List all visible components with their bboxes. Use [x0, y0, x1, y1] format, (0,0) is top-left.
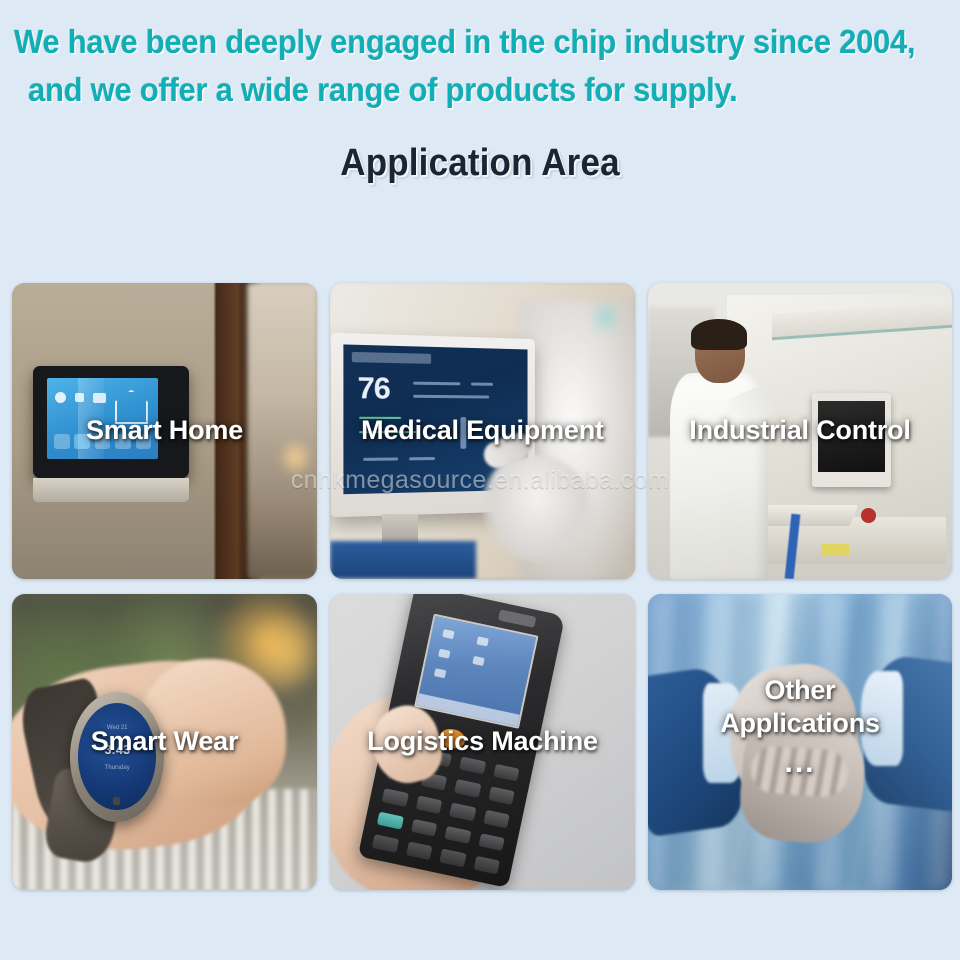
- page-title: Application Area: [51, 140, 908, 186]
- right-shirt-cuff: [861, 671, 904, 766]
- smartwatch: Wed 21 3:43 Thursday: [70, 692, 165, 822]
- keypad-key: [406, 842, 433, 861]
- card-smart-wear[interactable]: Wed 21 3:43 Thursday Smart Wear: [12, 594, 317, 890]
- page-header: We have been deeply engaged in the chip …: [0, 0, 960, 186]
- keypad-key: [478, 833, 505, 852]
- monitor-waveform-2: [471, 382, 492, 385]
- shortcut-icon-light: [54, 434, 70, 448]
- keypad-key: [454, 779, 481, 798]
- watch-weekday-label: Thursday: [78, 765, 156, 771]
- headline-line-2: and we offer a wide range of products fo…: [28, 66, 891, 114]
- card-smart-home[interactable]: Smart Home: [12, 283, 317, 579]
- logistics-machine-photo: [330, 594, 635, 890]
- monitor-waveform-1: [413, 381, 461, 385]
- industrial-control-photo: [648, 283, 952, 579]
- emergency-button: [861, 508, 876, 523]
- headline-line-1: We have been deeply engaged in the chip …: [14, 18, 890, 66]
- card-logistics-machine[interactable]: Logistics Machine: [330, 594, 635, 890]
- handshake-fingers: [750, 745, 850, 799]
- desktop-icon-5: [472, 656, 485, 666]
- keypad-key: [440, 849, 467, 868]
- monitor-status-bar: [352, 352, 432, 364]
- monitor-trace-green-2: [360, 431, 417, 433]
- warm-light-glow: [277, 437, 314, 478]
- smart-home-photo: [12, 283, 317, 579]
- yellow-label: [821, 544, 848, 556]
- screen-glare: [78, 378, 103, 459]
- scan-button: [437, 726, 466, 750]
- desktop-icon-3: [433, 668, 446, 678]
- application-area-grid: Smart Home 76: [12, 283, 950, 890]
- keypad-key: [473, 856, 500, 875]
- monitor-waveform-3: [413, 395, 489, 399]
- watch-crown: [113, 797, 120, 805]
- keypad-key: [372, 834, 399, 853]
- blue-drape: [330, 541, 476, 579]
- keypad-key: [459, 756, 486, 775]
- monitor-footer-1: [363, 458, 397, 461]
- medical-equipment-photo: 76: [330, 283, 635, 579]
- hand: [140, 659, 286, 807]
- card-other-applications[interactable]: Other Applications ...: [648, 594, 952, 890]
- machine-monitor-screen: [818, 401, 884, 472]
- keypad-key: [483, 810, 510, 829]
- shortcut-icon-camera: [136, 434, 152, 448]
- keypad-key-function: [377, 811, 404, 830]
- desktop-icon-2: [438, 648, 451, 658]
- monitor-reading-value: 76: [358, 372, 390, 407]
- other-applications-photo: [648, 594, 952, 890]
- monitor-footer-2: [409, 458, 435, 461]
- keypad-key: [416, 795, 443, 814]
- keypad-key: [493, 763, 520, 782]
- technician-hair: [691, 319, 747, 350]
- monitor-vertical-trace: [461, 417, 466, 449]
- desktop-icon-1: [442, 629, 455, 639]
- watch-face: Wed 21 3:43 Thursday: [78, 703, 156, 810]
- machine-monitor: [812, 393, 891, 488]
- desktop-icon-4: [476, 636, 489, 646]
- device-screen: [414, 614, 538, 729]
- keypad-key: [382, 788, 409, 807]
- watch-time-label: 3:43: [78, 742, 156, 757]
- smart-wear-photo: Wed 21 3:43 Thursday: [12, 594, 317, 890]
- monitor-trace-green-1: [360, 417, 402, 419]
- shortcut-icon-wifi: [115, 434, 131, 448]
- watch-date-label: Wed 21: [78, 725, 156, 731]
- wall-touch-panel: [33, 366, 189, 478]
- keypad-key: [488, 787, 515, 806]
- clock-icon: [55, 392, 66, 403]
- machine-top-beam: [772, 302, 952, 341]
- technician-figure: [666, 324, 769, 579]
- card-medical-equipment[interactable]: 76 Medical Equipment: [330, 283, 635, 579]
- house-icon: [115, 390, 148, 424]
- panel-screen: [47, 378, 157, 459]
- keypad-key: [411, 818, 438, 837]
- device-speaker: [498, 609, 536, 627]
- card-industrial-control[interactable]: Industrial Control: [648, 283, 952, 579]
- room-background: [247, 283, 317, 579]
- keypad-key: [449, 802, 476, 821]
- panel-base-shelf: [33, 478, 189, 502]
- keypad-key: [444, 826, 471, 845]
